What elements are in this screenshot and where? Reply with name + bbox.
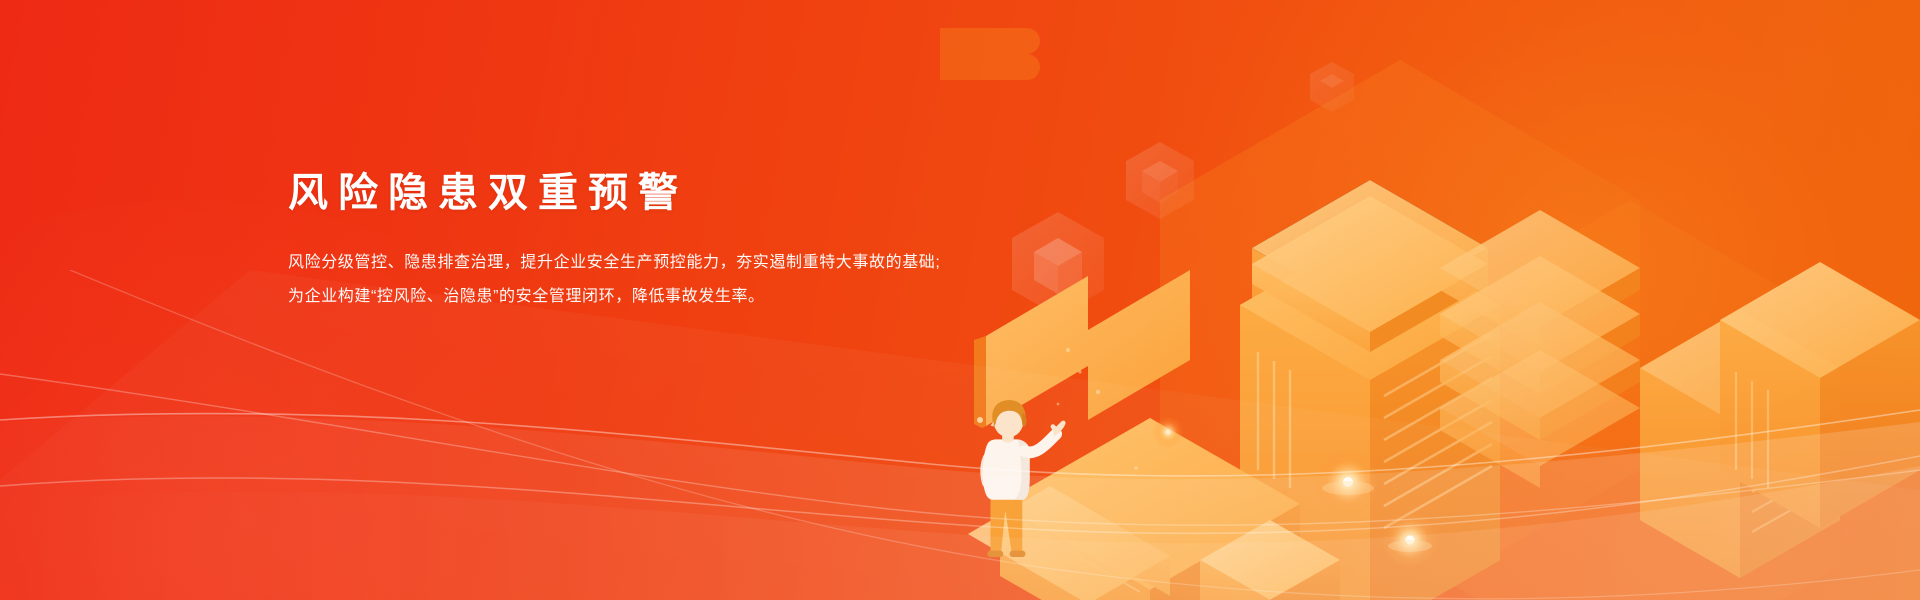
banner-subtitle: 风险分级管控、隐患排查治理，提升企业安全生产预控能力，夯实遏制重特大事故的基础;… bbox=[288, 246, 988, 314]
risk-warning-banner: 风险隐患双重预警 风险分级管控、隐患排查治理，提升企业安全生产预控能力，夯实遏制… bbox=[0, 0, 1920, 600]
banner-copy: 风险隐患双重预警 风险分级管控、隐患排查治理，提升企业安全生产预控能力，夯实遏制… bbox=[288, 168, 988, 314]
banner-subtitle-line-2: 为企业构建“控风险、治隐患”的安全管理闭环，降低事故发生率。 bbox=[288, 280, 988, 314]
cloud-shape-top bbox=[940, 28, 1040, 80]
banner-title: 风险隐患双重预警 bbox=[288, 168, 988, 218]
bottom-wave-decoration bbox=[0, 270, 1920, 600]
banner-subtitle-line-1: 风险分级管控、隐患排查治理，提升企业安全生产预控能力，夯实遏制重特大事故的基础; bbox=[288, 246, 988, 280]
